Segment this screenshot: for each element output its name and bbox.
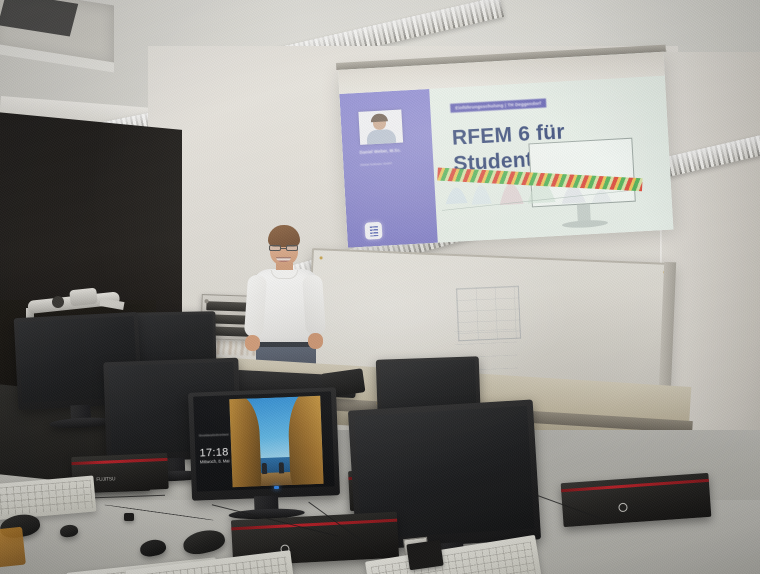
monitor-front-middle[interactable]: Dieseldampfturbinenband 17:18 Mittwoch, … — [188, 387, 340, 501]
presenter-hair — [268, 225, 300, 247]
power-led-indicator — [274, 486, 279, 489]
monitor-bezel: Dieseldampfturbinenband 17:18 Mittwoch, … — [188, 387, 340, 501]
presenter-left-hand — [245, 335, 260, 351]
monitor-arm-head[interactable] — [69, 288, 98, 307]
dlubal-logo-icon — [365, 222, 383, 240]
slide-presenter-name: Daniel Weber, M.Sc. — [359, 146, 427, 155]
presenter-belt — [258, 342, 314, 347]
presenter-right-arm — [302, 274, 326, 335]
clock-date: Mittwoch, 8. Mai — [200, 459, 230, 464]
glasses-lens-right — [286, 245, 298, 251]
vent-grille — [0, 0, 78, 36]
logo-bars — [369, 226, 378, 236]
keyboard-keys[interactable] — [0, 480, 93, 516]
presentation-slide: Daniel Weber, M.Sc. Dlubal Software GmbH… — [339, 76, 673, 248]
clock-time: 17:18 — [199, 447, 229, 459]
glasses-icon — [268, 245, 301, 251]
projection-surface: Daniel Weber, M.Sc. Dlubal Software GmbH… — [338, 52, 673, 248]
projection-screen: Daniel Weber, M.Sc. Dlubal Software GmbH… — [338, 52, 673, 248]
monitor-arm-clamp — [99, 298, 124, 310]
desktop-clock: 17:18 Mittwoch, 8. Mai — [199, 447, 229, 465]
rack-fastener — [205, 299, 209, 303]
slide-presenter-role: Dlubal Software GmbH — [360, 159, 430, 168]
glasses-lens-left — [269, 245, 281, 251]
wallpaper-figure — [279, 462, 284, 473]
slide-badge: Einführungsschulung | TH Deggendorf — [450, 98, 546, 113]
slide-sidebar: Daniel Weber, M.Sc. Dlubal Software GmbH — [339, 89, 437, 248]
power-supply-brick — [406, 540, 443, 570]
pc-accent-stripe — [71, 458, 167, 465]
air-conditioning-vent — [0, 0, 114, 66]
pc-accent-stripe — [561, 479, 709, 492]
lecture-room-photo: Daniel Weber, M.Sc. Dlubal Software GmbH… — [0, 0, 760, 574]
pc-accent-stripe — [231, 519, 397, 530]
wallpaper-rock-right — [287, 396, 323, 487]
pc-brand-label: FUJITSU — [96, 476, 115, 483]
desktop-screen[interactable]: Dieseldampfturbinenband 17:18 Mittwoch, … — [193, 392, 334, 492]
portrait-body — [366, 129, 396, 145]
slide-monitor-base — [562, 219, 608, 229]
presenter-portrait — [358, 110, 403, 145]
wallpaper-figure — [262, 463, 267, 474]
glasses-bridge — [281, 248, 287, 249]
desktop-wallpaper — [229, 396, 323, 487]
monitor-arm-pivot[interactable] — [52, 296, 64, 308]
fujitsu-logo-icon — [618, 503, 628, 513]
portrait-hair — [371, 113, 388, 122]
cable-connector — [124, 513, 134, 521]
presenter-right-hand — [308, 333, 323, 349]
desktop-top-text: Dieseldampfturbinenband — [199, 434, 229, 438]
orange-object-on-desk — [0, 527, 26, 568]
